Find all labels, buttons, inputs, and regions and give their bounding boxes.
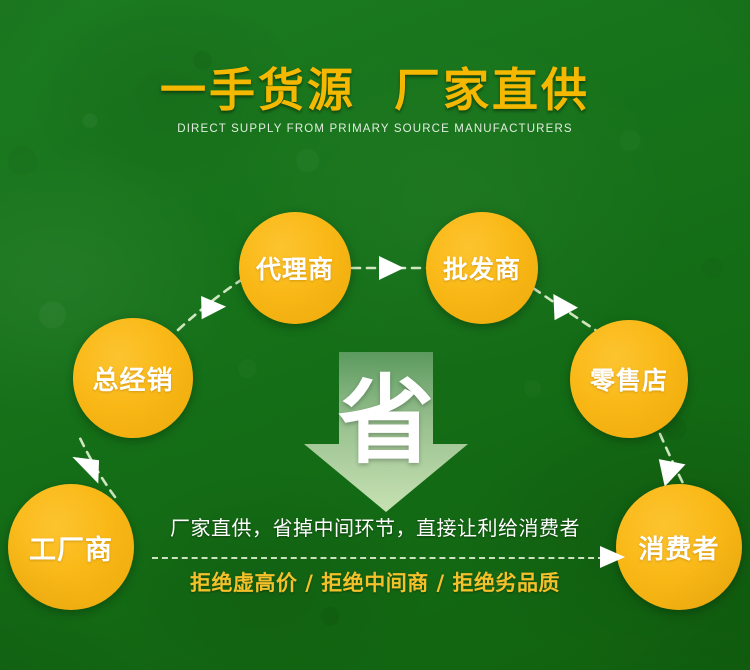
bottom-rule-arrow-layer xyxy=(0,0,750,670)
promo-poster: 一手货源 厂家直供 DIRECT SUPPLY FROM PRIMARY SOU… xyxy=(0,0,750,670)
bottom-rule-arrowhead xyxy=(600,546,625,568)
